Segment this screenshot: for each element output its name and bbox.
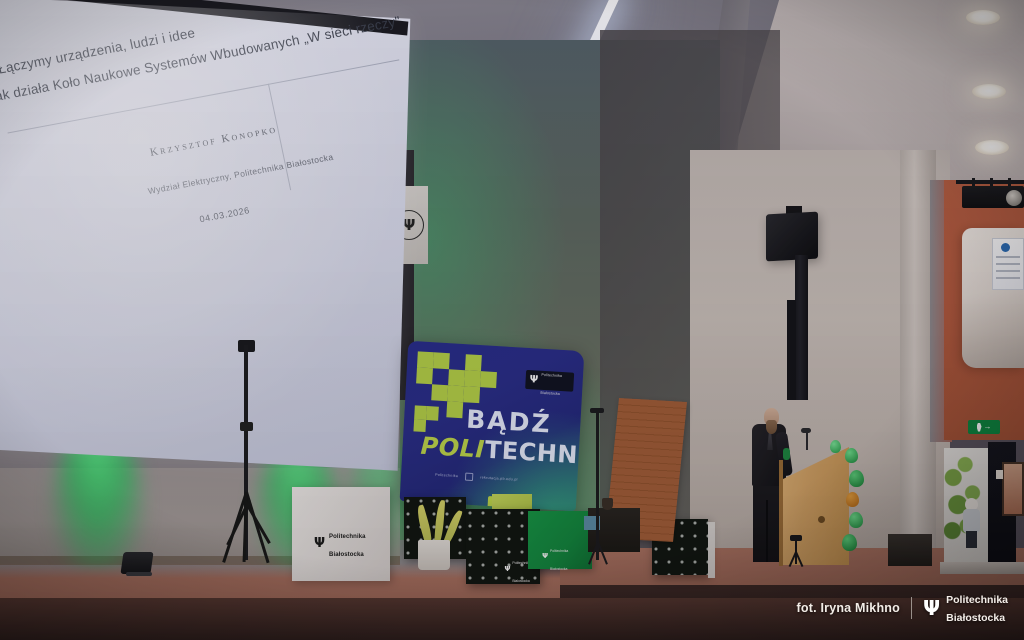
banner-footer-left: Politechnika [435, 473, 458, 478]
black-wall-column [795, 255, 808, 400]
recessed-downlight [966, 10, 1000, 25]
banner-pixel-block [446, 401, 463, 418]
stage-floor-uplight-base [126, 572, 152, 576]
green-cube-logo-text: Politechnika Białostocka [550, 539, 568, 575]
banner-pixel-block [433, 352, 450, 369]
wall-loudspeaker [766, 212, 818, 262]
decorative-balloon [830, 440, 841, 453]
decorative-balloon [849, 512, 863, 528]
university-name-line2: Białostocka [946, 612, 1005, 624]
recessed-downlight [972, 84, 1006, 99]
white-cube-logo: Ψ Politechnika Białostocka [314, 525, 366, 561]
person-outside-window [962, 498, 980, 548]
white-cube-line1: Politechnika [329, 534, 366, 540]
exit-running-man-icon [977, 423, 982, 432]
banner-footer-right: rekrutacja.pb.edu.pl [480, 475, 518, 481]
pb-logo-icon: Ψ [542, 553, 548, 560]
lectern-knob [818, 516, 825, 523]
white-cube-line2: Białostocka [329, 552, 364, 558]
photographer-credit: fot. Iryna Mikhno [797, 601, 900, 615]
banner-pixel-block [463, 386, 480, 403]
university-name-line1: Politechnika [946, 594, 1008, 606]
poster-text-line [996, 256, 1020, 258]
decorative-balloon [849, 470, 864, 487]
presenter-leg-gap [766, 500, 768, 562]
banner-badge-line2: Białostocka [540, 390, 560, 395]
poster-logo-icon [1001, 243, 1010, 252]
projected-slide: Łączymy urządzenia, ludzi i idee jak dzi… [0, 0, 464, 454]
green-cube-logo: Ψ Politechnika Białostocka [542, 539, 568, 575]
banner-university-badge: Ψ Politechnika Białostocka [525, 370, 574, 392]
green-cube-line1: Politechnika [550, 549, 568, 553]
banner-subline-accent: POLI [420, 432, 486, 464]
poster-text-line [996, 270, 1020, 272]
poster-text-line [996, 277, 1020, 279]
banner-footer-icon [465, 473, 473, 481]
dark-cube-line2: Białostocka [512, 579, 529, 583]
handheld-microphone [783, 448, 790, 460]
presenter-beard [766, 420, 777, 434]
banner-pixel-block [448, 369, 465, 386]
green-cube-line2: Białostocka [550, 567, 567, 571]
banner-badge-line1: Politechnika [541, 372, 562, 377]
decorative-balloon [845, 448, 858, 463]
banner-pixel-block [480, 371, 497, 388]
white-cube-logo-text: Politechnika Białostocka [329, 525, 366, 561]
banner-pixel-block [426, 406, 439, 421]
badz-politechniczny-banner: Ψ Politechnika Białostocka BĄDŹ POLITECH… [400, 341, 585, 512]
person-legs [966, 531, 977, 548]
microphone-stand [596, 412, 599, 560]
podium-microphone [806, 432, 808, 450]
green-branded-cube: Ψ Politechnika Białostocka [528, 511, 592, 569]
decorative-balloon [846, 492, 859, 507]
banner-pixel-block [416, 367, 433, 384]
cube-white-side-face [708, 522, 715, 578]
banner-pixel-block [465, 354, 482, 371]
decorative-balloon [842, 534, 857, 551]
pb-logo-icon: Ψ [314, 537, 325, 550]
framed-wall-poster [1002, 462, 1024, 516]
university-logo: Ψ Politechnika Białostocka [923, 590, 1008, 626]
banner-pixel-block [431, 384, 448, 401]
pb-logo-icon: Ψ [504, 566, 510, 573]
banner-pixel-block [417, 351, 434, 368]
banner-headline: BĄDŹ [466, 404, 553, 438]
window-sill [940, 562, 1024, 574]
banner-pixel-block [447, 385, 464, 402]
table-vase [602, 498, 613, 510]
person-body [963, 509, 980, 533]
plant-pot [418, 540, 450, 570]
lecture-hall-photo: Ψ Łączymy urządzenia, ludzi i idee jak d… [0, 0, 1024, 640]
stage-floor-uplight [120, 552, 153, 574]
dark-cube-logo: Ψ Politechnika Białostocka [504, 551, 530, 587]
tripod-adjust-knob [240, 422, 253, 431]
credit-divider [911, 597, 912, 619]
projection-screen: Łączymy urządzenia, ludzi i idee jak dzi… [0, 0, 410, 471]
recessed-downlight [975, 140, 1009, 155]
pb-logo-icon: Ψ [529, 375, 538, 386]
door-small-sign [996, 470, 1003, 479]
slide-divider-vertical [268, 84, 291, 191]
banner-pixel-block [414, 405, 427, 420]
lectern-left-edge [779, 460, 783, 566]
banner-badge-text: Politechnika Białostocka [540, 362, 563, 399]
photo-credit-overlay: fot. Iryna Mikhno Ψ Politechnika Białost… [797, 590, 1008, 626]
slide-date: 04.03.2026 [199, 178, 397, 224]
emergency-exit-sign: → [968, 420, 1000, 434]
stage-light-lens [1006, 190, 1022, 206]
exit-arrow-icon: → [984, 423, 992, 431]
banner-pixel-block [464, 370, 481, 387]
pb-logo-icon: Ψ [923, 598, 940, 618]
banner-pixel-block [413, 419, 426, 432]
white-branded-cube: Ψ Politechnika Białostocka [292, 487, 390, 581]
stage-equipment-box [888, 534, 932, 566]
black-wall-column-secondary [787, 300, 796, 400]
university-logo-text: Politechnika Białostocka [946, 590, 1008, 626]
poster-text-line [996, 263, 1020, 265]
